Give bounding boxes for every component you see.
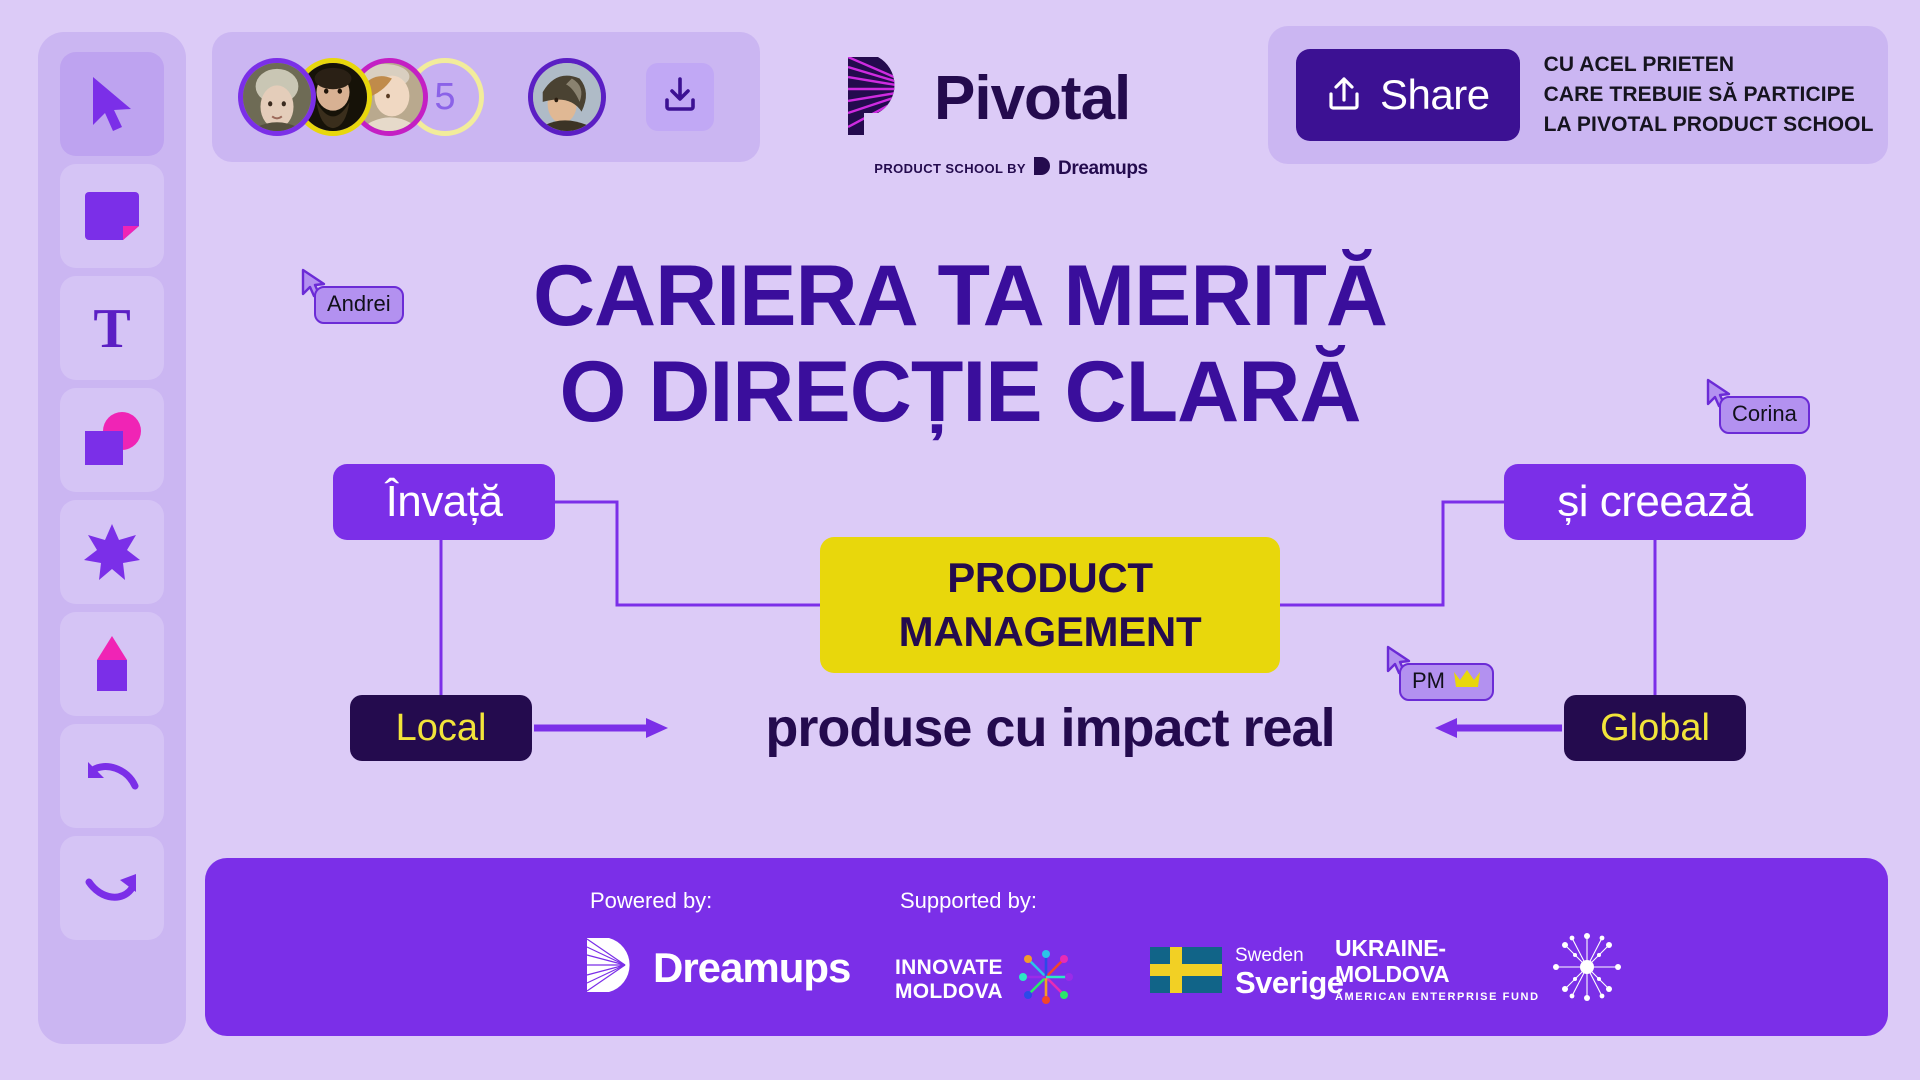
sweden-sverige-logo: Sweden Sverige	[1150, 946, 1344, 999]
brand-tagline-prefix: PRODUCT SCHOOL BY	[874, 161, 1026, 176]
dreamups-wordmark: Dreamups	[653, 944, 850, 992]
node-invata[interactable]: Învață	[333, 464, 555, 540]
arrow-local-to-impact	[534, 718, 668, 738]
share-button-label: Share	[1380, 71, 1490, 119]
powered-by-label: Powered by:	[590, 888, 712, 914]
innovate-moldova-logo: INNOVATE MOLDOVA	[895, 946, 1077, 1013]
dreamups-d-icon	[585, 936, 639, 999]
cursor-label-text: Andrei	[327, 291, 391, 317]
innovate-line-2: MOLDOVA	[895, 980, 1003, 1003]
share-upload-icon	[1326, 74, 1362, 117]
node-global[interactable]: Global	[1564, 695, 1746, 761]
node-impact-text[interactable]: produse cu impact real	[680, 688, 1420, 768]
headline-line-1: CARIERA TA MERITĂ	[533, 248, 1387, 344]
cursor-label-text: Corina	[1732, 401, 1797, 427]
node-pm-line-2: MANAGEMENT	[899, 605, 1202, 659]
share-note-line-2: CARE TREBUIE SĂ PARTICIPE	[1544, 80, 1874, 110]
avatar[interactable]	[238, 58, 316, 136]
brand-tagline: PRODUCT SCHOOL BY Dreamups	[846, 156, 1176, 181]
sweden-flag-icon	[1150, 947, 1222, 998]
dreamups-logo: Dreamups	[585, 936, 850, 999]
cursor-arrow-icon	[89, 75, 135, 133]
avatar[interactable]	[528, 58, 606, 136]
mindmap-diagram: Învață și creează PRODUCT MANAGEMENT Loc…	[0, 450, 1920, 820]
pivotal-p-logo	[846, 55, 918, 142]
redo-tool[interactable]	[60, 836, 164, 940]
node-pm-line-1: PRODUCT	[947, 551, 1153, 605]
share-panel: Share CU ACEL PRIETEN CARE TREBUIE SĂ PA…	[1268, 26, 1888, 164]
redo-arrow-icon	[85, 870, 139, 906]
download-button[interactable]	[646, 63, 714, 131]
sweden-label-small: Sweden	[1235, 946, 1344, 967]
cursor-label: Andrei	[314, 286, 404, 324]
share-button[interactable]: Share	[1296, 49, 1520, 141]
sticky-note-icon	[83, 188, 141, 244]
node-si-creeaza[interactable]: și creează	[1504, 464, 1806, 540]
brand-logo-group: Pivotal PRODUCT SCHOOL BY Dreamups	[846, 55, 1176, 181]
canvas-root: T	[0, 0, 1920, 1080]
download-icon	[661, 76, 699, 119]
share-note-line-3: LA PIVOTAL PRODUCT SCHOOL	[1544, 110, 1874, 140]
sweden-label-big: Sverige	[1235, 967, 1344, 1000]
select-tool[interactable]	[60, 52, 164, 156]
node-local[interactable]: Local	[350, 695, 532, 761]
sponsors-footer: Powered by: Supported by: Dr	[205, 858, 1888, 1036]
ukraine-moldova-fund-logo: UKRAINE- MOLDOVA AMERICAN ENTERPRISE FUN…	[1335, 930, 1624, 1009]
ukraine-line-2: MOLDOVA	[1335, 962, 1540, 988]
share-note: CU ACEL PRIETEN CARE TREBUIE SĂ PARTICIP…	[1544, 50, 1874, 139]
dreamups-d-icon	[1033, 156, 1051, 181]
arrow-global-to-impact	[1435, 718, 1562, 738]
starburst-icon	[1550, 930, 1624, 1009]
cursor-label: Corina	[1719, 396, 1810, 434]
innovate-network-icon	[1015, 946, 1077, 1013]
share-note-line-1: CU ACEL PRIETEN	[1544, 50, 1874, 80]
brand-tagline-brand: Dreamups	[1058, 158, 1148, 180]
collaborators-bar: 5	[212, 32, 760, 162]
node-product-management[interactable]: PRODUCT MANAGEMENT	[820, 537, 1280, 673]
ukraine-line-1: UKRAINE-	[1335, 936, 1540, 962]
innovate-line-1: INNOVATE	[895, 956, 1003, 979]
page-title: CARIERA TA MERITĂ O DIRECȚIE CLARĂ	[0, 248, 1920, 441]
ukraine-subtitle: AMERICAN ENTERPRISE FUND	[1335, 991, 1540, 1003]
brand-name: Pivotal	[934, 68, 1130, 130]
supported-by-label: Supported by:	[900, 888, 1037, 914]
headline-line-2: O DIRECȚIE CLARĂ	[0, 344, 1920, 440]
